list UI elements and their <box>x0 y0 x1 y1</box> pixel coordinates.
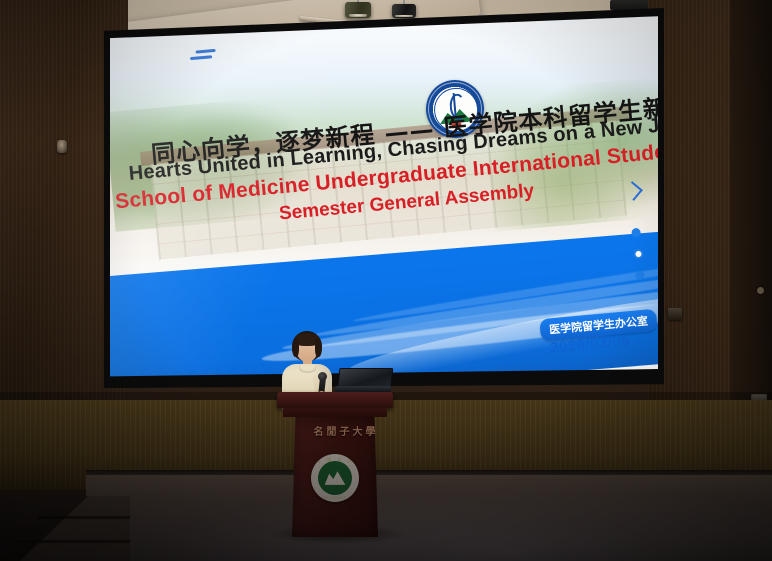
stage-reflection <box>86 470 772 561</box>
presenter-hair-side <box>292 339 299 357</box>
stage-step-edge <box>38 516 130 519</box>
wall-fixture-icon <box>757 287 764 294</box>
podium-top-surface <box>277 392 393 408</box>
seal-mountain-mark <box>325 470 346 485</box>
podium-lip <box>283 408 387 417</box>
door-lock-icon <box>57 140 67 153</box>
presenter-collar <box>299 364 316 373</box>
screen-surface: 名 闲 子 大 學 <box>110 14 658 380</box>
presenter-hair-side <box>315 339 322 357</box>
laptop-on-podium[interactable] <box>335 368 394 394</box>
seal-inner-disc <box>318 461 353 496</box>
slide-decoration-dashes <box>190 49 217 63</box>
led-screen[interactable]: 名 闲 子 大 學 <box>104 8 664 388</box>
stage-step-edge <box>16 540 130 543</box>
podium-university-name: 名閒子大學 <box>308 423 384 438</box>
stage-front-edge <box>86 470 772 475</box>
wall-bracket-icon <box>668 308 682 320</box>
university-seal-icon: 名 閒 子 大 學 UNIVERSITY <box>311 454 359 502</box>
microphone-head-icon <box>318 372 327 381</box>
auditorium-photo: 名 闲 子 大 學 <box>0 0 772 561</box>
slide-photo-foliage <box>482 76 658 231</box>
podium: 名閒子大學 名 閒 子 大 學 UNIVERSITY <box>281 392 389 537</box>
seal-bottom-text: UNIVERSITY <box>311 495 359 500</box>
